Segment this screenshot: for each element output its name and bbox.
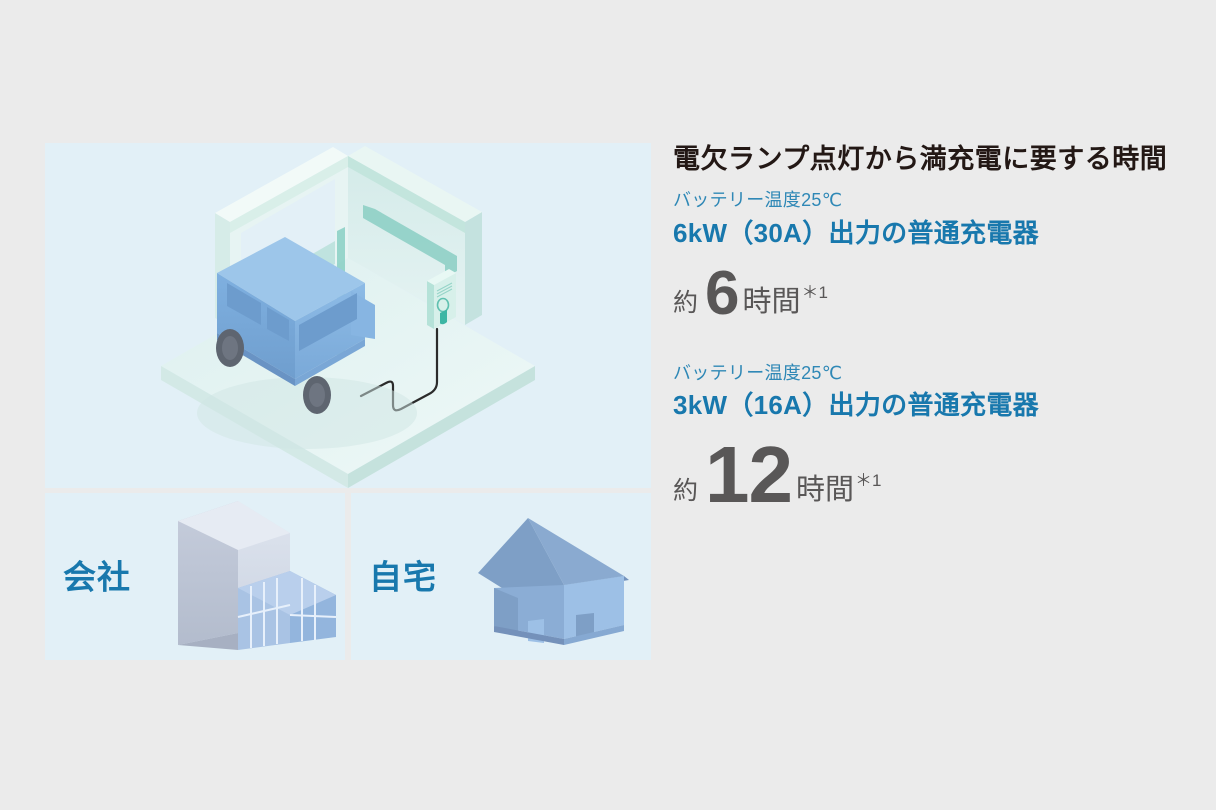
charge-duration-3kw: 約 12 時間 ＊1 bbox=[673, 438, 1193, 506]
charger-type-label: 6kW（30A）出力の普通充電器 bbox=[673, 217, 1193, 250]
footnote-marker: ＊1 bbox=[855, 472, 881, 489]
home-panel: 自宅 bbox=[351, 493, 651, 660]
duration-approx-prefix: 約 bbox=[673, 291, 698, 316]
house-icon bbox=[446, 493, 651, 660]
charger-type-label: 3kW（16A）出力の普通充電器 bbox=[673, 389, 1193, 422]
duration-approx-prefix: 約 bbox=[673, 479, 698, 504]
company-panel: 会社 bbox=[45, 493, 345, 660]
office-building-icon bbox=[140, 493, 345, 660]
spec-column: 電欠ランプ点灯から満充電に要する時間 バッテリー温度25℃ 6kW（30A）出力… bbox=[673, 143, 1193, 512]
page-title: 電欠ランプ点灯から満充電に要する時間 bbox=[673, 143, 1193, 175]
company-label: 会社 bbox=[63, 560, 131, 593]
duration-unit: 時間 bbox=[743, 288, 801, 317]
duration-unit: 時間 bbox=[796, 476, 854, 505]
footnote-marker: ＊1 bbox=[802, 284, 828, 301]
spec-block-3kw: バッテリー温度25℃ 3kW（16A）出力の普通充電器 約 12 時間 ＊1 bbox=[673, 362, 1193, 506]
duration-value: 6 bbox=[698, 268, 742, 321]
garage-charging-illustration bbox=[45, 143, 651, 488]
battery-temperature-condition: バッテリー温度25℃ bbox=[673, 362, 1193, 385]
home-label: 自宅 bbox=[369, 560, 437, 593]
charge-duration-6kw: 約 6 時間 ＊1 bbox=[673, 265, 1193, 318]
duration-value: 12 bbox=[698, 441, 796, 509]
garage-illustration-panel bbox=[45, 143, 651, 488]
spec-block-6kw: バッテリー温度25℃ 6kW（30A）出力の普通充電器 約 6 時間 ＊1 bbox=[673, 189, 1193, 318]
illustration-column: 会社 bbox=[45, 143, 651, 660]
battery-temperature-condition: バッテリー温度25℃ bbox=[673, 189, 1193, 212]
